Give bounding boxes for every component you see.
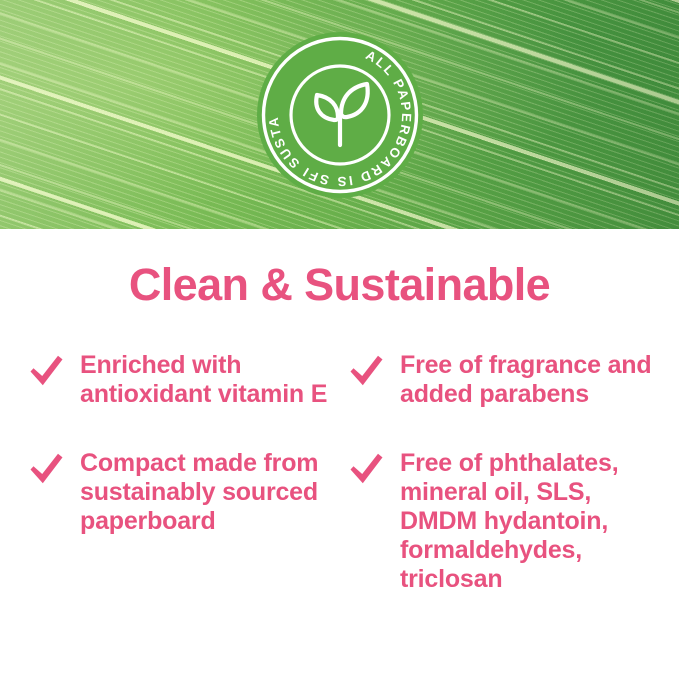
feature-text: Free of fragrance and added parabens	[400, 351, 651, 408]
content-area: Clean & Sustainable Enriched with antiox…	[0, 229, 679, 679]
feature-column-right: Free of fragrance and added parabens Fre…	[348, 351, 668, 634]
checkmark-icon	[348, 453, 388, 487]
feature-column-left: Enriched with antioxidant vitamin E Comp…	[28, 351, 328, 576]
feature-text: Enriched with antioxidant vitamin E	[80, 351, 327, 408]
feature-item: Free of phthalates, mineral oil, SLS, DM…	[348, 449, 668, 594]
badge-graphic: ALL PAPERBOARD IS SFI SUSTAINABLY SOURCE…	[257, 32, 423, 198]
feature-item: Enriched with antioxidant vitamin E	[28, 351, 328, 409]
feature-item: Compact made from sustainably sourced pa…	[28, 449, 328, 536]
feature-item: Free of fragrance and added parabens	[348, 351, 668, 409]
feature-text: Compact made from sustainably sourced pa…	[80, 449, 318, 535]
product-feature-panel: ALL PAPERBOARD IS SFI SUSTAINABLY SOURCE…	[0, 0, 679, 679]
checkmark-icon	[348, 355, 388, 389]
checkmark-icon	[28, 453, 68, 487]
feature-text: Free of phthalates, mineral oil, SLS, DM…	[400, 449, 618, 593]
page-title: Clean & Sustainable	[0, 262, 679, 307]
checkmark-icon	[28, 355, 68, 389]
leaf-hero-banner: ALL PAPERBOARD IS SFI SUSTAINABLY SOURCE…	[0, 0, 679, 229]
sfi-sustainability-badge: ALL PAPERBOARD IS SFI SUSTAINABLY SOURCE…	[257, 32, 423, 198]
